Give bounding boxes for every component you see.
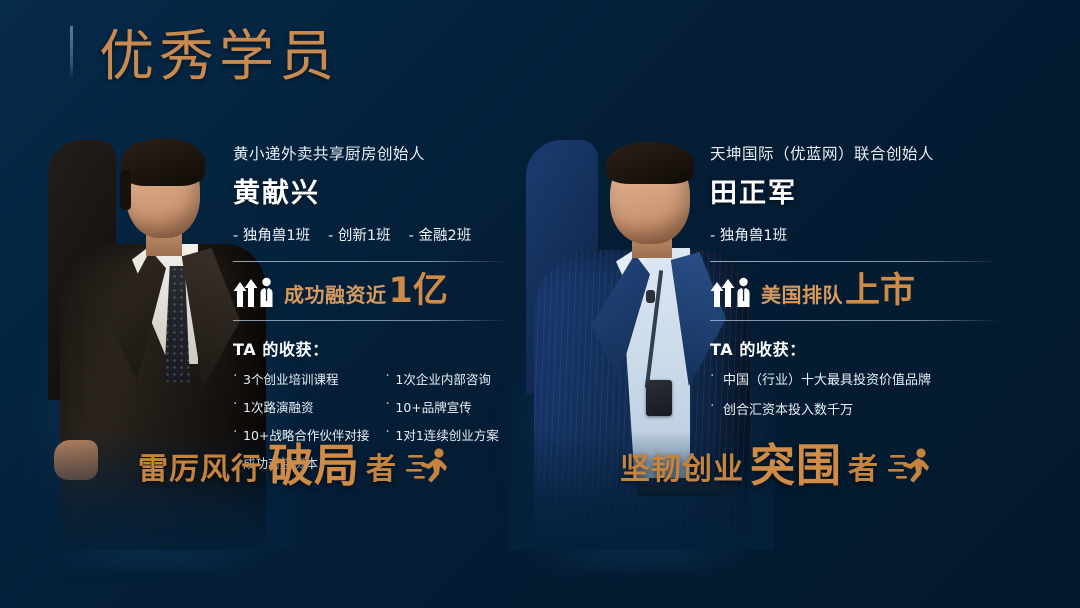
student-name: 黄献兴 — [233, 171, 523, 210]
achievement-row: 成功融资近 1亿 — [233, 274, 523, 309]
student-classes: - 独角兽1班 - 创新1班 - 金融2班 — [233, 224, 523, 245]
divider-bottom — [710, 320, 1000, 321]
student-tagline-1: 雷厉风行 破局 者 — [138, 443, 452, 488]
divider-top — [710, 261, 1000, 262]
runner-icon — [406, 446, 452, 486]
id-badge — [646, 380, 672, 416]
gain-item: 中国（行业）十大最具投资价值品牌 — [710, 369, 1030, 388]
gains-title: TA 的收获： — [710, 336, 1030, 360]
clip-microphone — [646, 290, 655, 303]
hair — [121, 138, 205, 186]
tagline-prefix: 雷厉风行 — [138, 444, 262, 488]
tagline-highlight: 破局 — [268, 443, 360, 488]
divider-bottom — [233, 320, 508, 321]
gain-item: 1次路演融资 — [233, 397, 369, 416]
slide-root: 优秀学员 黄小递外卖共享厨房创始人 — [0, 0, 1080, 608]
gains-title: TA 的收获： — [233, 336, 523, 360]
student-tagline-2: 坚韧创业 突围 者 — [620, 443, 934, 488]
student-card-1: 黄小递外卖共享厨房创始人 黄献兴 - 独角兽1班 - 创新1班 - 金融2班 — [28, 120, 528, 550]
student-role: 黄小递外卖共享厨房创始人 — [233, 142, 523, 164]
people-arrows-icon — [233, 277, 275, 307]
achievement-row: 美国排队 上市 — [710, 274, 1030, 309]
achievement-prefix: 美国排队 — [761, 279, 843, 308]
class-tag: - 金融2班 — [409, 224, 472, 245]
class-tag: - 独角兽1班 — [233, 224, 310, 245]
tagline-highlight: 突围 — [750, 443, 842, 488]
gain-item: 创合汇资本投入数千万 — [710, 399, 1030, 418]
class-tag: - 创新1班 — [328, 224, 391, 245]
tagline-prefix: 坚韧创业 — [620, 444, 744, 488]
student-info-1: 黄小递外卖共享厨房创始人 黄献兴 - 独角兽1班 - 创新1班 - 金融2班 — [233, 142, 523, 472]
divider-top — [233, 261, 508, 262]
student-classes: - 独角兽1班 — [710, 224, 1030, 245]
runner-icon — [888, 446, 934, 486]
achievement-text: 成功融资近 1亿 — [284, 274, 448, 309]
achievement-prefix: 成功融资近 — [284, 279, 387, 308]
student-card-2: 天坤国际（优蓝网）联合创始人 田正军 - 独角兽1班 美国排队 上市 — [520, 120, 1040, 550]
gain-item: 1对1连续创业方案 — [385, 425, 498, 444]
gain-item: 3个创业培训课程 — [233, 369, 369, 388]
gain-item: 1次企业内部咨询 — [385, 369, 498, 388]
slide-title-group: 优秀学员 — [70, 22, 349, 91]
title-accent-bar — [70, 26, 73, 79]
achievement-highlight: 1亿 — [389, 274, 448, 309]
sideburn — [120, 170, 131, 210]
people-arrows-icon — [710, 277, 752, 307]
gain-item: 10+品牌宣传 — [385, 397, 498, 416]
tagline-suffix: 者 — [848, 444, 878, 488]
tagline-suffix: 者 — [366, 444, 396, 488]
student-name: 田正军 — [710, 171, 1030, 210]
class-tag: - 独角兽1班 — [710, 224, 787, 245]
achievement-highlight: 上市 — [845, 274, 915, 309]
achievement-text: 美国排队 上市 — [761, 274, 915, 309]
page-title: 优秀学员 — [99, 22, 349, 91]
gains-list: 中国（行业）十大最具投资价值品牌 创合汇资本投入数千万 — [710, 369, 1030, 418]
student-info-2: 天坤国际（优蓝网）联合创始人 田正军 - 独角兽1班 美国排队 上市 — [710, 142, 1030, 418]
hair — [606, 142, 694, 184]
student-role: 天坤国际（优蓝网）联合创始人 — [710, 142, 1030, 164]
